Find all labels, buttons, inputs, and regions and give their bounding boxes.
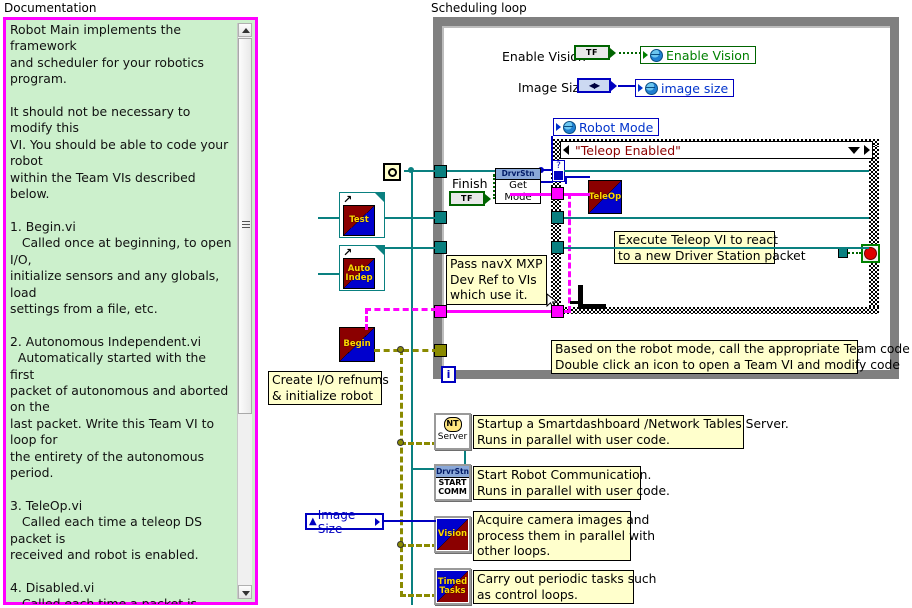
start-comm-subvi[interactable]: DrvrStn START COMM — [434, 464, 471, 501]
case-tunnel-1[interactable] — [551, 211, 564, 224]
open-arrow-icon: ↗ — [343, 247, 352, 258]
nt-badge: NT — [444, 417, 462, 432]
navx-wire-top — [510, 193, 590, 196]
image-size-indicator[interactable]: ▲ Image Size — [305, 513, 384, 530]
case-structure-right-border — [869, 139, 879, 314]
loop-tunnel-navx[interactable] — [434, 305, 447, 318]
refnum-wire-vision — [400, 544, 438, 547]
nt-server-comment: Startup a Smartdashboard /Network Tables… — [473, 415, 744, 449]
navx-comment: Pass navX MXP Dev Ref to VIs which use i… — [446, 255, 547, 305]
scheduling-loop-label: Scheduling loop — [431, 1, 527, 15]
refnum-wire-ntserver — [400, 442, 438, 445]
teleop-vi-icon[interactable]: TeleOp — [588, 180, 622, 214]
vision-comment: Acquire camera images and process them i… — [473, 511, 631, 561]
wire-case-through-2 — [564, 247, 869, 249]
refnum-wire-main-vertical — [400, 349, 403, 597]
wire-case-through-0 — [564, 170, 869, 172]
documentation-scrollbar[interactable] — [237, 23, 252, 599]
begin-navx-wire-h — [365, 308, 437, 311]
chevron-down-icon[interactable] — [848, 147, 860, 154]
scrollbar-thumb[interactable] — [238, 38, 252, 414]
wait-timer-node[interactable] — [383, 163, 401, 181]
globe-icon — [650, 49, 663, 62]
open-arrow-icon: ↗ — [343, 194, 352, 205]
refnum-junction-1 — [397, 346, 404, 353]
robot-mode-comment: Based on the robot mode, call the approp… — [551, 340, 858, 374]
case-tunnel-navx-top[interactable] — [551, 187, 564, 200]
globe-icon — [645, 82, 658, 95]
timed-tasks-vi-icon[interactable]: Timed Tasks — [437, 571, 468, 602]
finish-boolean-control[interactable]: TF — [449, 191, 491, 206]
enable-vision-global[interactable]: Enable Vision — [640, 44, 756, 64]
timed-tasks-comment: Carry out periodic tasks such as control… — [473, 570, 634, 604]
auto-independent-vi-document[interactable]: ↗ Auto Indep — [339, 245, 385, 291]
wire-junction-top — [408, 167, 414, 173]
wire-case-through-1 — [564, 217, 869, 219]
case-selector[interactable]: "Teleop Enabled" — [560, 141, 873, 159]
auto-independent-vi-icon[interactable]: Auto Indep — [343, 258, 375, 289]
robot-mode-global[interactable]: Robot Mode — [553, 116, 659, 136]
vision-subvi[interactable]: Vision — [434, 516, 471, 553]
begin-vi-icon[interactable]: Begin — [339, 327, 375, 362]
home-icon: ▲ — [309, 516, 317, 527]
enable-vision-wire — [619, 52, 641, 54]
refnum-wire-from-begin — [374, 349, 438, 352]
documentation-panel: Robot Main implements the framework and … — [3, 17, 258, 605]
page-fold-icon — [375, 246, 384, 255]
terminal-arrow-icon — [611, 81, 617, 91]
case-tunnel-navx-bottom[interactable] — [551, 305, 564, 318]
wire-tunnel-to-getmode — [447, 170, 495, 172]
robot-mode-wire-vertical — [551, 136, 553, 170]
case-tunnel-2[interactable] — [551, 241, 564, 254]
get-mode-out-wire — [541, 169, 553, 171]
terminal-arrow-icon — [485, 194, 491, 204]
enable-vision-boolean-control[interactable]: TF — [574, 45, 616, 60]
get-mode-header: DrvrStn — [496, 169, 540, 180]
image-size-global[interactable]: image size — [635, 77, 734, 97]
timed-tasks-subvi[interactable]: Timed Tasks — [434, 568, 471, 605]
iteration-terminal: i — [441, 366, 456, 383]
stop-tunnel — [838, 248, 848, 258]
start-comm-comment: Start Robot Communication. Runs in paral… — [473, 466, 641, 500]
wire-auto-to-tunnel-h — [381, 247, 436, 249]
get-mode-out-wire2 — [541, 181, 553, 183]
case-shadow-tick — [570, 301, 578, 304]
vision-vi-icon[interactable]: Vision — [437, 519, 468, 550]
refnum-junction-3 — [397, 541, 404, 548]
get-mode-node[interactable]: DrvrStn Get Mode — [495, 168, 541, 204]
teleop-in-wire-h — [565, 176, 590, 178]
case-shadow-h — [578, 304, 606, 309]
next-case-icon[interactable] — [864, 145, 870, 155]
terminal-arrow-icon — [375, 518, 380, 526]
documentation-label: Documentation — [4, 1, 97, 15]
page-fold-icon — [375, 193, 384, 202]
begin-navx-wire-v — [365, 308, 368, 330]
terminal-arrow-icon — [610, 48, 616, 58]
refnum-wire-timedtasks — [400, 594, 438, 597]
test-vi-document[interactable]: ↗ Test — [339, 192, 385, 238]
refnum-junction-2 — [397, 439, 404, 446]
prev-case-icon[interactable] — [563, 145, 569, 155]
documentation-text: Robot Main implements the framework and … — [10, 22, 232, 604]
wire-main-vertical — [411, 170, 413, 605]
scroll-down-arrow-icon[interactable] — [238, 585, 252, 599]
test-vi-icon[interactable]: Test — [343, 205, 375, 236]
finish-label: Finish — [452, 176, 488, 191]
navx-wire-vertical — [568, 193, 571, 312]
image-size-numeric-control[interactable]: ◀▶ — [577, 78, 617, 93]
globe-icon — [563, 121, 576, 134]
scrollbar-grip-icon — [242, 221, 250, 228]
nt-server-subvi[interactable]: NT Server — [434, 413, 471, 450]
begin-comment: Create I/O refnums & initialize robot — [268, 371, 382, 405]
image-size-indicator-wire — [384, 520, 436, 522]
scroll-up-arrow-icon[interactable] — [238, 23, 252, 37]
